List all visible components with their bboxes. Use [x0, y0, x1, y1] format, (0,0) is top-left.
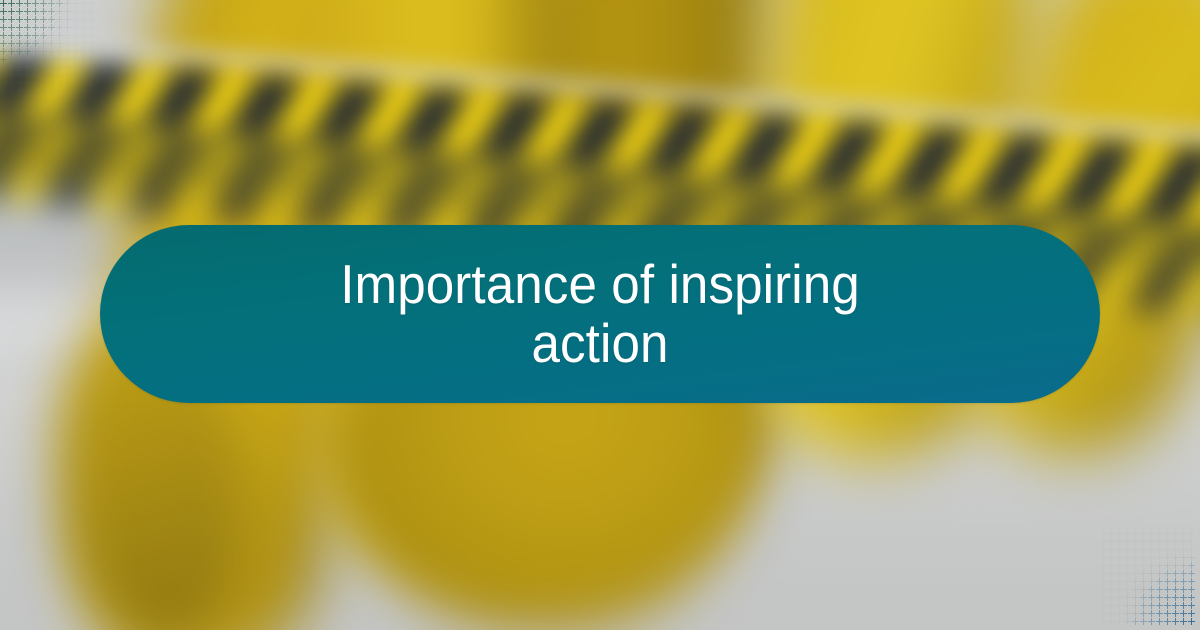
social-card: Importance of inspiring action [0, 0, 1200, 630]
page-title: Importance of inspiring action [302, 255, 897, 373]
title-pill: Importance of inspiring action [100, 225, 1100, 403]
